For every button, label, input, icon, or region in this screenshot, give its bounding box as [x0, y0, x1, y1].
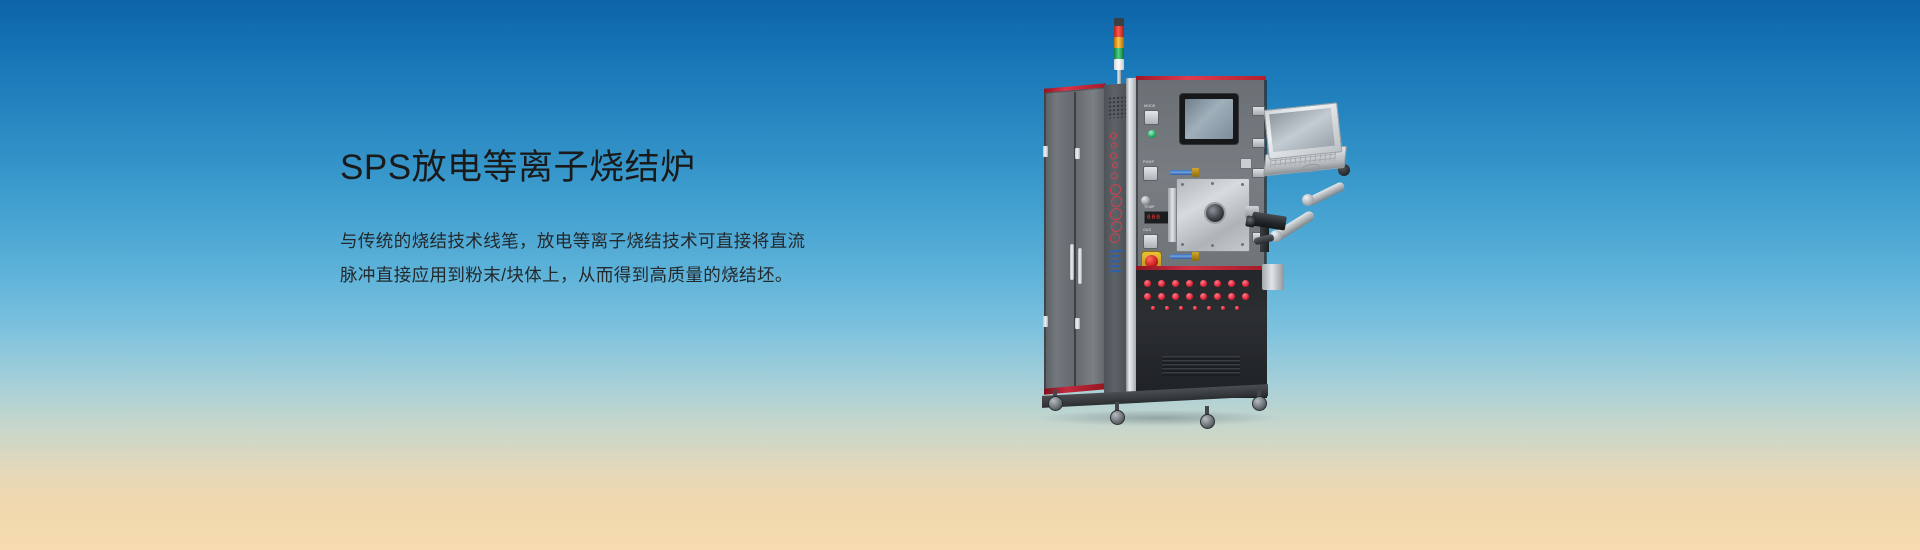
- exhaust-vent-icon: [1162, 356, 1240, 376]
- ground-shadow: [1040, 410, 1276, 426]
- product-banner: SPS放电等离子烧结炉 与传统的烧结技术线笔，放电等离子烧结技术可直接将直流 脉…: [0, 0, 1920, 550]
- caster-wheel: [1048, 396, 1063, 411]
- cabinet-handle-left: [1070, 244, 1074, 280]
- panel-switch-mode: [1144, 110, 1159, 125]
- cabinet-hinge-icon: [1075, 318, 1080, 329]
- cabinet-hinge-icon: [1043, 146, 1048, 157]
- panel-rotary-knob: [1141, 196, 1150, 205]
- panel-switch-mode-label: MODE: [1144, 104, 1156, 108]
- led-indicator-panel: [1144, 280, 1256, 314]
- cabinet-handle-right: [1078, 248, 1082, 284]
- chamber-viewport: [1206, 204, 1224, 222]
- cabinet-hinge-icon: [1075, 148, 1080, 159]
- panel-switch-gas: [1143, 234, 1158, 249]
- laptop-screen: [1269, 108, 1335, 152]
- page-title: SPS放电等离子烧结炉: [340, 146, 900, 190]
- caster-wheel: [1252, 396, 1267, 411]
- description-line-1: 与传统的烧结技术线笔，放电等离子烧结技术可直接将直流: [340, 224, 900, 258]
- cabinet-door-seam: [1074, 92, 1076, 388]
- camera-lens-icon: [1245, 215, 1256, 227]
- panel-switch-pump: [1143, 166, 1158, 181]
- digital-readout-value: 000: [1147, 214, 1161, 221]
- side-decal: [1108, 129, 1126, 280]
- pipe-fitting-icon: [1192, 168, 1199, 177]
- arm-clamp: [1262, 264, 1284, 290]
- status-lamp-green-icon: [1148, 130, 1156, 138]
- hmi-touchscreen: [1185, 99, 1233, 139]
- signal-tower-amber-icon: [1114, 37, 1124, 48]
- usb-port-icon: [1240, 158, 1252, 169]
- perforated-vent-icon: [1108, 95, 1126, 118]
- signal-tower-cap-icon: [1114, 18, 1124, 26]
- signal-tower-green-icon: [1114, 48, 1124, 59]
- caster-wheel: [1200, 414, 1215, 429]
- description-line-2: 脉冲直接应用到粉末/块体上，从而得到高质量的烧结坯。: [340, 258, 900, 292]
- banner-description: 与传统的烧结技术线笔，放电等离子烧结技术可直接将直流 脉冲直接应用到粉末/块体上…: [340, 224, 900, 292]
- panel-switch-pump-label: PUMP: [1143, 160, 1154, 164]
- pipe-fitting-icon: [1192, 252, 1199, 261]
- signal-tower-white-icon: [1114, 59, 1124, 70]
- panel-switch-gas-label: GAS: [1143, 228, 1151, 232]
- product-image-sps-furnace: MODE PUMP 000 TEMP GAS: [1040, 18, 1360, 438]
- cabinet-hinge-icon: [1043, 316, 1048, 327]
- banner-copy-block: SPS放电等离子烧结炉 与传统的烧结技术线笔，放电等离子烧结技术可直接将直流 脉…: [340, 146, 900, 292]
- panel-button: [1252, 138, 1265, 148]
- digital-readout-label: TEMP: [1144, 205, 1155, 209]
- signal-tower-red-icon: [1114, 26, 1124, 37]
- arm-joint: [1302, 194, 1314, 206]
- caster-wheel: [1110, 410, 1125, 425]
